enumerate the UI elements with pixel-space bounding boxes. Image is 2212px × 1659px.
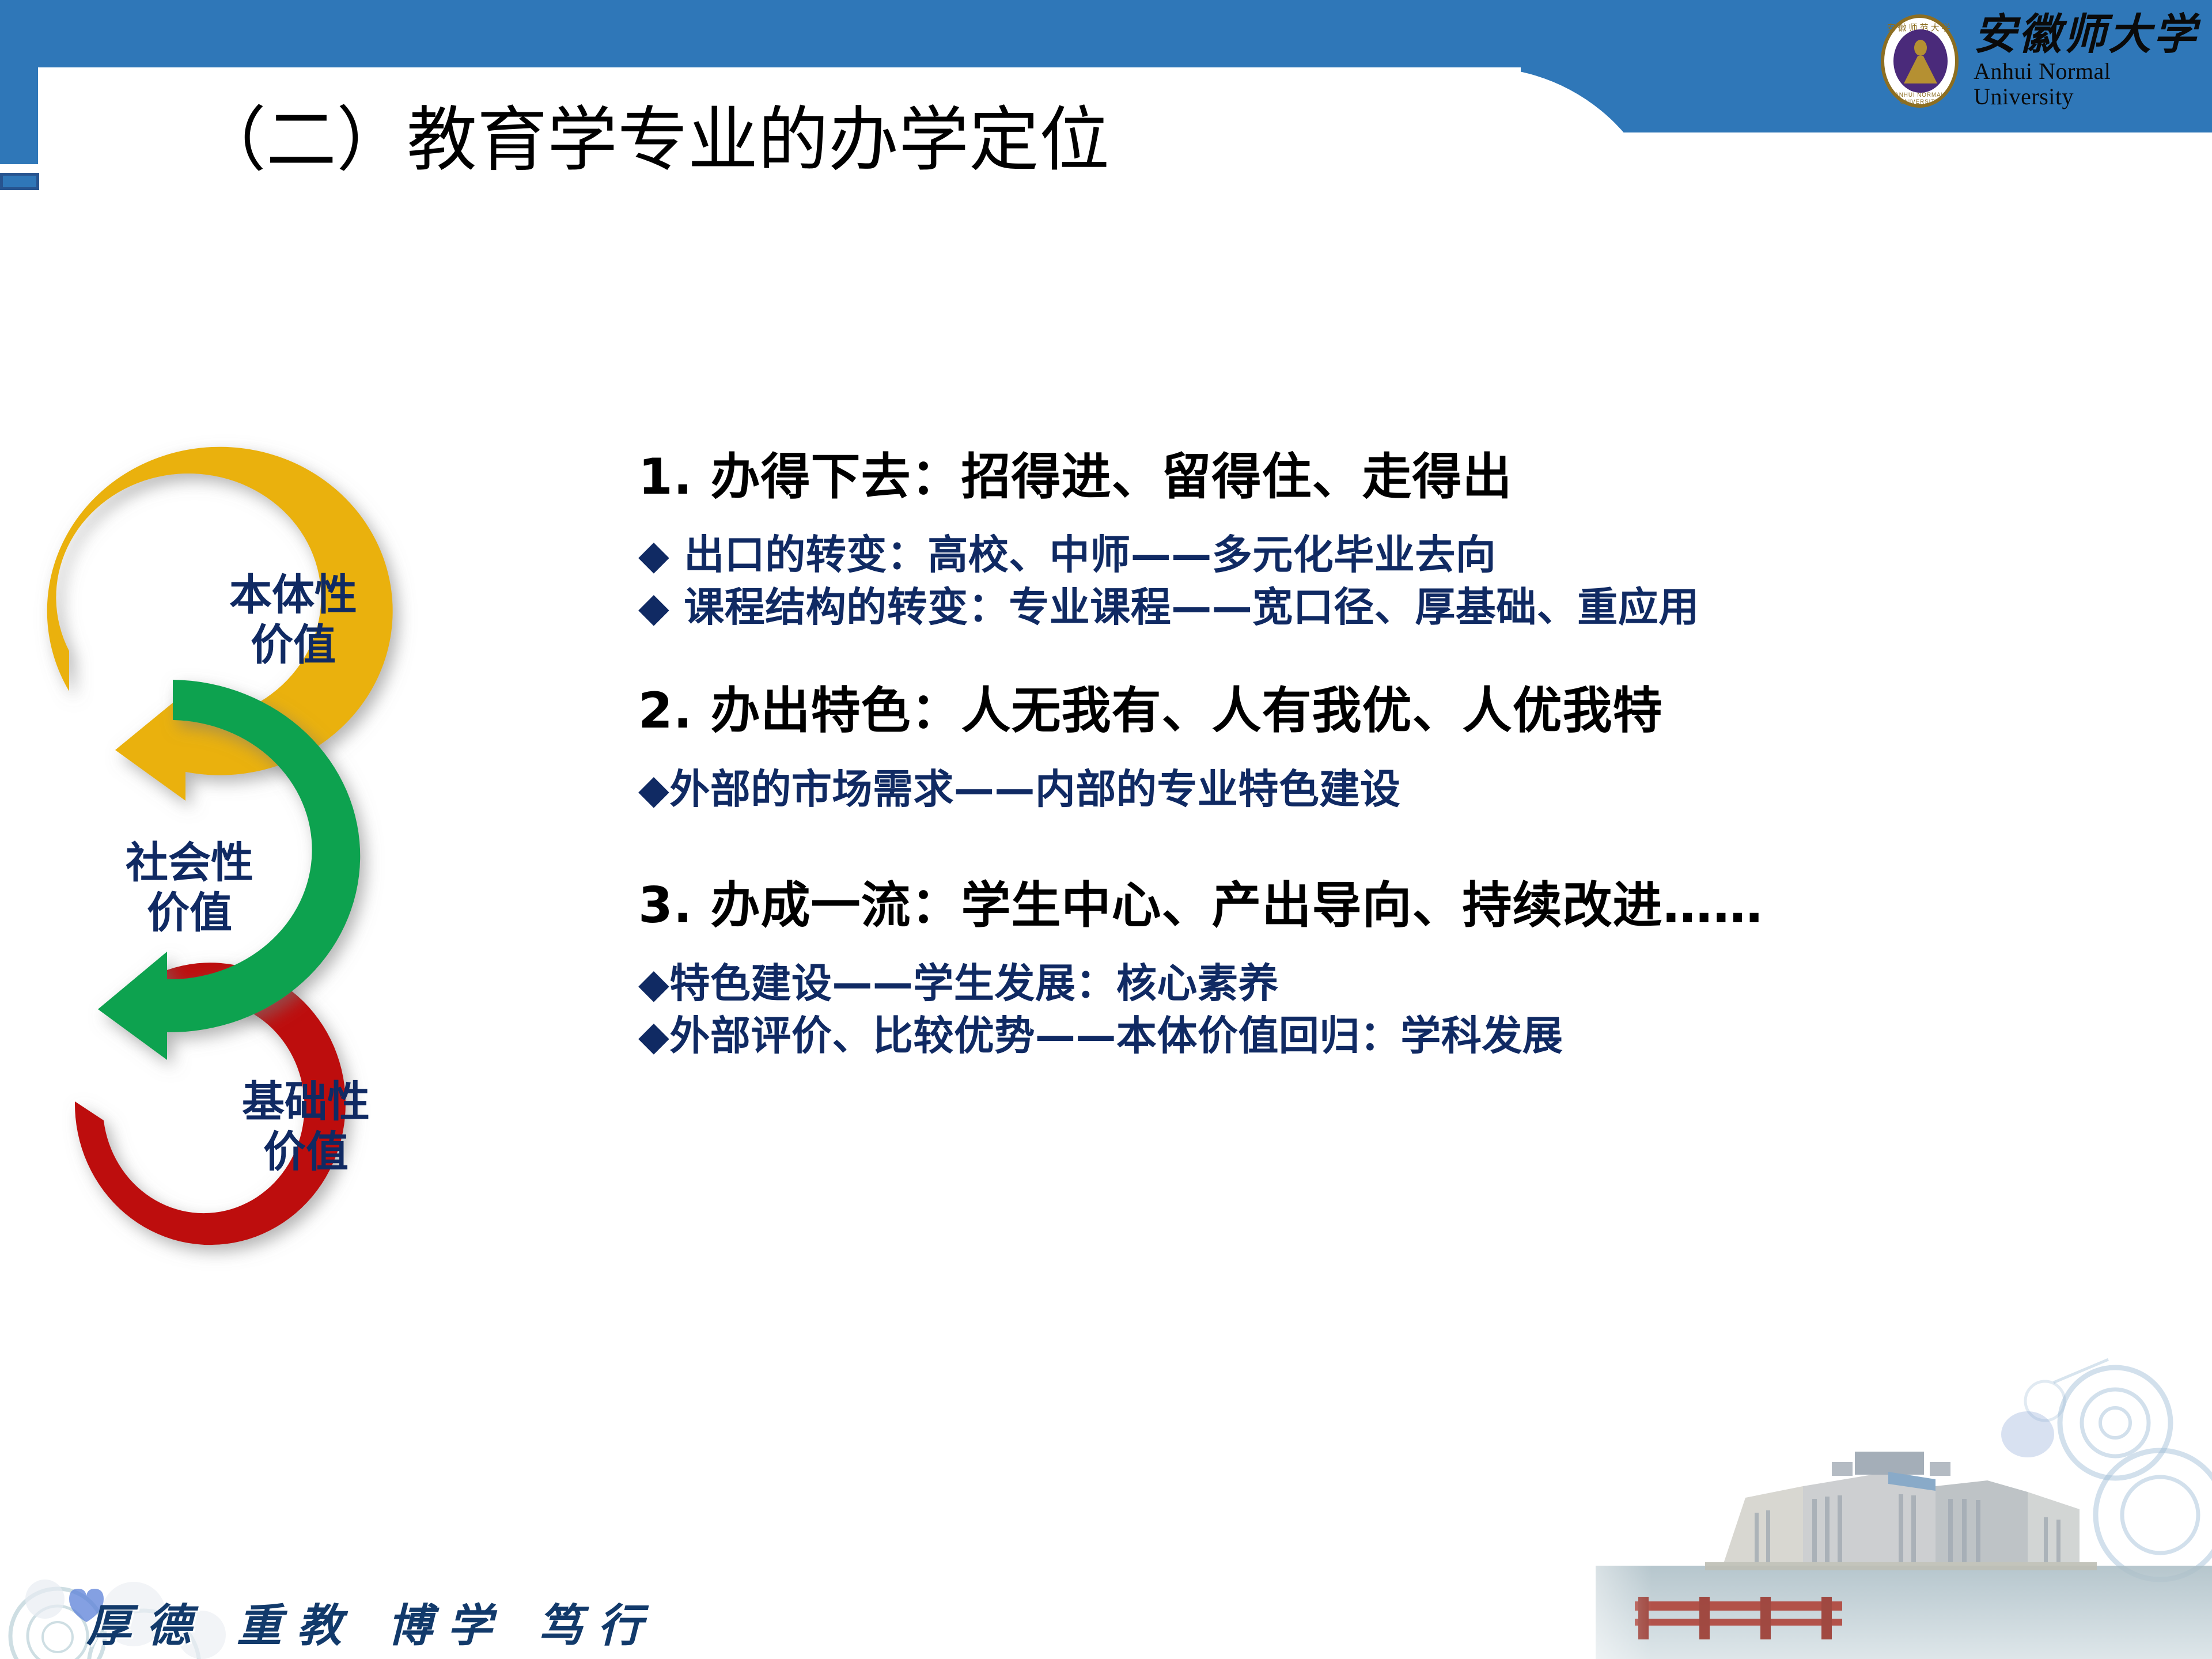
section-1: 1. 办得下去：招得进、留得住、走得出 ◆ 出口的转变：高校、中师——多元化毕业…	[638, 449, 2182, 634]
ring-label-social: 社会性 价值	[126, 838, 253, 939]
logo-name-en: Anhui Normal University	[1974, 59, 2212, 109]
page-title: （二）教育学专业的办学定位	[196, 105, 1109, 175]
section-gap	[638, 816, 2182, 878]
section-2-bullets: ◆外部的市场需求——内部的专业特色建设	[638, 763, 2182, 816]
section-3-heading: 3. 办成一流：学生中心、产出导向、持续改进……	[638, 878, 2182, 933]
left-accent-bar	[0, 0, 38, 164]
university-motto: 厚德 重教 博学 笃行	[86, 1590, 657, 1654]
ring-label-line2: 价值	[126, 888, 253, 938]
section-2-heading: 2. 办出特色：人无我有、人有我优、人优我特	[638, 683, 2182, 738]
railing-decoration	[1635, 1597, 1842, 1639]
section-1-heading: 1. 办得下去：招得进、留得住、走得出	[638, 449, 2182, 505]
content-body: 1. 办得下去：招得进、留得住、走得出 ◆ 出口的转变：高校、中师——多元化毕业…	[638, 449, 2182, 1062]
bullet-item: ◆外部的市场需求——内部的专业特色建设	[638, 763, 2182, 816]
left-accent-chip	[0, 173, 39, 190]
ring-label-line2: 价值	[242, 1127, 370, 1177]
bullet-item: ◆ 课程结构的转变：专业课程——宽口径、厚基础、重应用	[638, 581, 2182, 634]
university-crest-icon: 安徽师范大学 1928 ANHUI NORMAL UNIVERSITY	[1881, 14, 1959, 108]
campus-building	[1705, 1452, 2097, 1570]
logo-name-cn: 安徽师大学	[1974, 13, 2212, 58]
bullet-item: ◆特色建设——学生发展：核心素养	[638, 957, 2182, 1010]
crest-arc-bottom-text: ANHUI NORMAL UNIVERSITY	[1885, 92, 1955, 105]
ring-label-line1: 社会性	[126, 838, 253, 888]
ring-label-foundational: 基础性 价值	[242, 1077, 370, 1178]
bullet-item: ◆ 出口的转变：高校、中师——多元化毕业去向	[638, 529, 2182, 581]
ring-label-line1: 基础性	[242, 1077, 370, 1127]
section-2: 2. 办出特色：人无我有、人有我优、人优我特 ◆外部的市场需求——内部的专业特色…	[638, 683, 2182, 815]
value-cycle-diagram	[0, 397, 611, 1388]
crest-figure-head	[1914, 40, 1927, 56]
section-3: 3. 办成一流：学生中心、产出导向、持续改进…… ◆特色建设——学生发展：核心素…	[638, 878, 2182, 1062]
section-1-bullets: ◆ 出口的转变：高校、中师——多元化毕业去向 ◆ 课程结构的转变：专业课程——宽…	[638, 529, 2182, 634]
university-logo: 安徽师范大学 1928 ANHUI NORMAL UNIVERSITY 安徽师大…	[1881, 13, 2212, 109]
logo-wordmark: 安徽师大学 Anhui Normal University	[1974, 13, 2212, 109]
ring-label-line1: 本体性	[229, 570, 357, 620]
bullet-item: ◆外部评价、比较优势——本体价值回归：学科发展	[638, 1010, 2182, 1062]
section-gap	[638, 634, 2182, 683]
ring-label-ontological: 本体性 价值	[229, 570, 357, 671]
ring-label-line2: 价值	[229, 620, 357, 671]
ring-decoration	[2025, 1368, 2212, 1580]
campus-decoration	[1532, 1348, 2212, 1659]
section-3-bullets: ◆特色建设——学生发展：核心素养 ◆外部评价、比较优势——本体价值回归：学科发展	[638, 957, 2182, 1062]
